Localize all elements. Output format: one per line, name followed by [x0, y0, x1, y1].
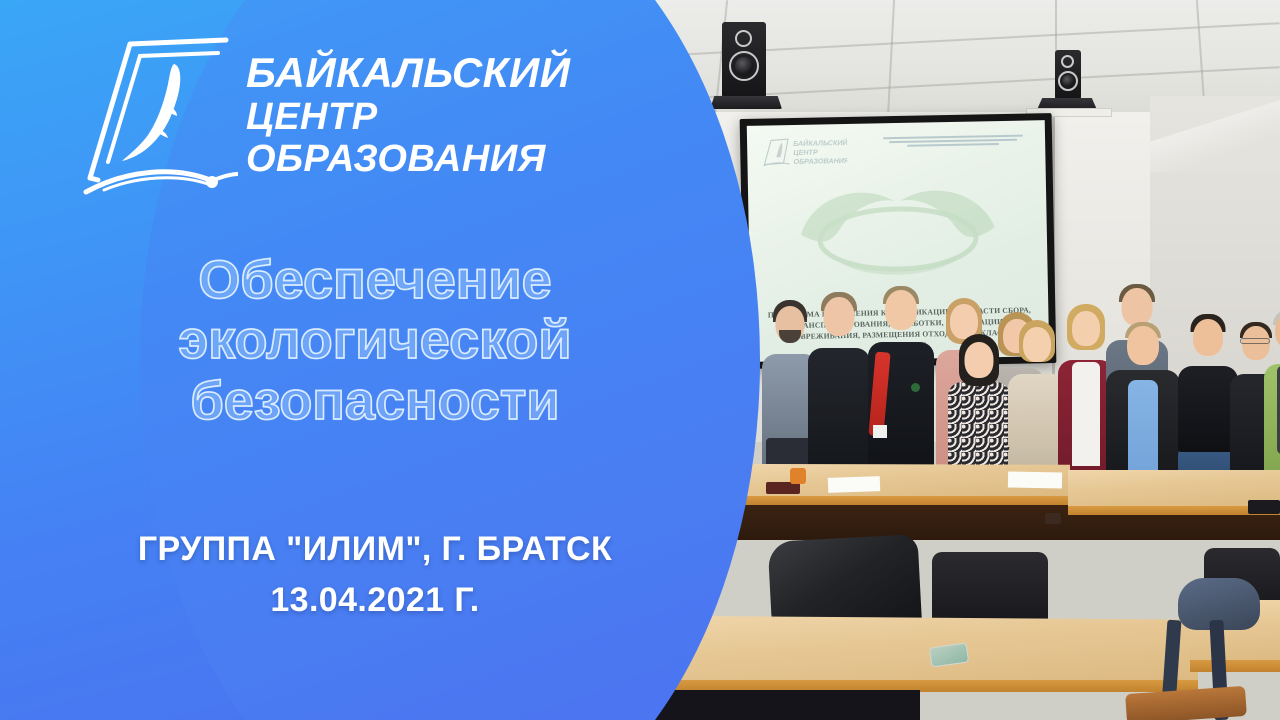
svg-text:ЦЕНТР: ЦЕНТР — [793, 148, 818, 157]
page-title: Обеспечение экологической безопасности — [20, 250, 730, 431]
desk-front-right-edge — [1190, 660, 1280, 672]
papers — [828, 476, 880, 493]
open-book-with-baikal-seal-icon — [78, 30, 238, 200]
svg-text:ОБРАЗОВАНИЯ: ОБРАЗОВАНИЯ — [793, 156, 847, 166]
slide-content: БАЙКАЛЬСКИЙ ЦЕНТР ОБРАЗОВАНИЯ Обеспечени… — [0, 0, 640, 720]
subtitle-block: ГРУППА "ИЛИМ", Г. БРАТСК 13.04.2021 Г. — [20, 530, 730, 620]
small-object — [790, 468, 806, 484]
title-line-1: Обеспечение — [20, 250, 730, 310]
slide-institution-text — [883, 133, 1023, 150]
brand-line-3: ОБРАЗОВАНИЯ — [246, 140, 646, 178]
group-label: ГРУППА "ИЛИМ", Г. БРАТСК — [20, 530, 730, 569]
small-object — [1248, 500, 1280, 514]
left-speaker-shelf — [710, 96, 782, 109]
desk-back-left-edge — [738, 496, 1072, 505]
svg-text:БАЙКАЛЬСКИЙ: БАЙКАЛЬСКИЙ — [793, 138, 848, 148]
title-line-2: экологической — [20, 310, 730, 370]
date-label: 13.04.2021 Г. — [20, 581, 730, 620]
brand-logo: БАЙКАЛЬСКИЙ ЦЕНТР ОБРАЗОВАНИЯ — [78, 26, 608, 202]
slide-logo-icon: БАЙКАЛЬСКИЙ ЦЕНТР ОБРАЗОВАНИЯ — [761, 134, 848, 170]
right-speaker-icon — [1055, 50, 1081, 100]
title-line-3: безопасности — [20, 371, 730, 431]
brand-wordmark: БАЙКАЛЬСКИЙ ЦЕНТР ОБРАЗОВАНИЯ — [246, 52, 646, 178]
brand-line-1: БАЙКАЛЬСКИЙ — [246, 52, 646, 94]
slide-canvas: БАЙКАЛЬСКИЙ ЦЕНТР ОБРАЗОВАНИЯ — [0, 0, 1280, 720]
brand-line-2: ЦЕНТР — [246, 98, 646, 136]
left-speaker-icon — [722, 22, 766, 98]
foreground-shadow — [620, 690, 920, 720]
papers — [1008, 472, 1062, 489]
small-object — [1045, 513, 1061, 524]
desk-front-left — [636, 616, 1198, 688]
